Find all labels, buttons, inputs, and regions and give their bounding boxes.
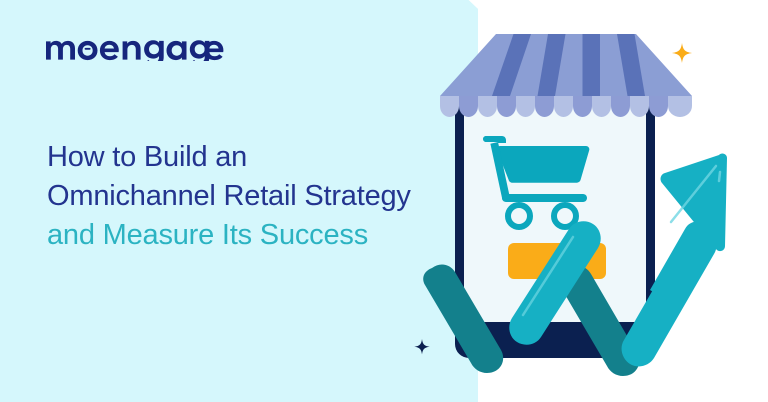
awning-stripes bbox=[440, 34, 692, 96]
store-awning bbox=[440, 34, 692, 117]
illustration-svg bbox=[400, 0, 768, 402]
headline-block: How to Build an Omnichannel Retail Strat… bbox=[47, 138, 447, 255]
moengage-logo[interactable] bbox=[46, 33, 224, 61]
star-navy-icon bbox=[414, 339, 429, 354]
headline-line-1: How to Build an bbox=[47, 138, 447, 177]
hero-banner: How to Build an Omnichannel Retail Strat… bbox=[0, 0, 768, 402]
moengage-logo-wordmark bbox=[46, 33, 224, 61]
omnichannel-retail-illustration bbox=[400, 0, 768, 402]
headline-line-2: Omnichannel Retail Strategy bbox=[47, 177, 447, 216]
headline-line-3: and Measure Its Success bbox=[47, 216, 447, 255]
sparkle-orange-icon bbox=[672, 43, 692, 63]
